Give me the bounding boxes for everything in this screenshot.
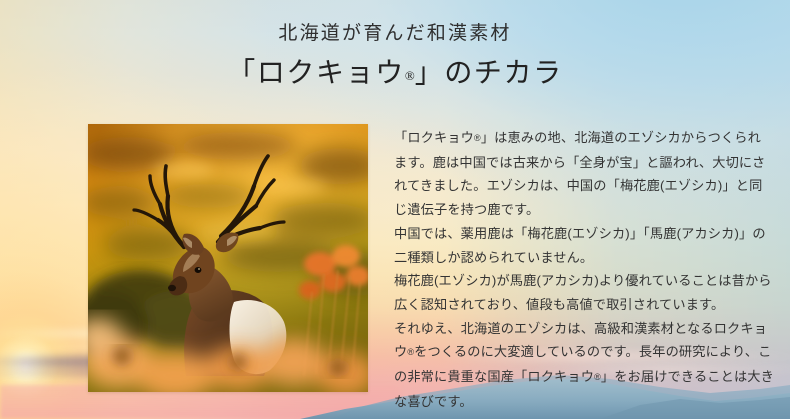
deer-photo-illustration xyxy=(88,124,368,392)
paragraph-2: 中国では、薬用鹿は「梅花鹿(エゾシカ)」「馬鹿(アカシカ)」の二種類しか認められ… xyxy=(394,222,774,269)
registered-trademark-icon: ® xyxy=(594,372,601,382)
deer-photo xyxy=(88,124,368,392)
page-title: 「ロクキョウ®」のチカラ xyxy=(0,60,790,88)
registered-trademark-icon: ® xyxy=(474,133,481,143)
paragraph-4: それゆえ、北海道のエゾシカは、高級和漢素材となるロクキョウ®をつくるのに大変適し… xyxy=(394,317,774,414)
page-title-suffix: 」のチカラ xyxy=(415,58,563,89)
body-text-run: 梅花鹿(エゾシカ)が馬鹿(アカシカ)より優れていることは昔から広く認知されており… xyxy=(394,273,772,312)
body-text-run: 中国では、薬用鹿は「梅花鹿(エゾシカ)」「馬鹿(アカシカ)」の二種類しか認められ… xyxy=(394,226,766,265)
page-title-prefix: 「ロクキョウ xyxy=(227,58,405,89)
body-text-run: 「ロクキョウ xyxy=(394,130,474,145)
paragraph-1: 「ロクキョウ®」は恵みの地、北海道のエゾシカからつくられます。鹿は中国では古来か… xyxy=(394,126,774,222)
page-subtitle: 北海道が育んだ和漢素材 xyxy=(0,24,790,43)
heading-block: 北海道が育んだ和漢素材 「ロクキョウ®」のチカラ xyxy=(0,0,790,88)
body-copy: 「ロクキョウ®」は恵みの地、北海道のエゾシカからつくられます。鹿は中国では古来か… xyxy=(394,126,774,413)
paragraph-3: 梅花鹿(エゾシカ)が馬鹿(アカシカ)より優れていることは昔から広く認知されており… xyxy=(394,269,774,316)
promo-section: 北海道が育んだ和漢素材 「ロクキョウ®」のチカラ xyxy=(0,0,790,419)
registered-trademark-icon: ® xyxy=(405,68,415,83)
